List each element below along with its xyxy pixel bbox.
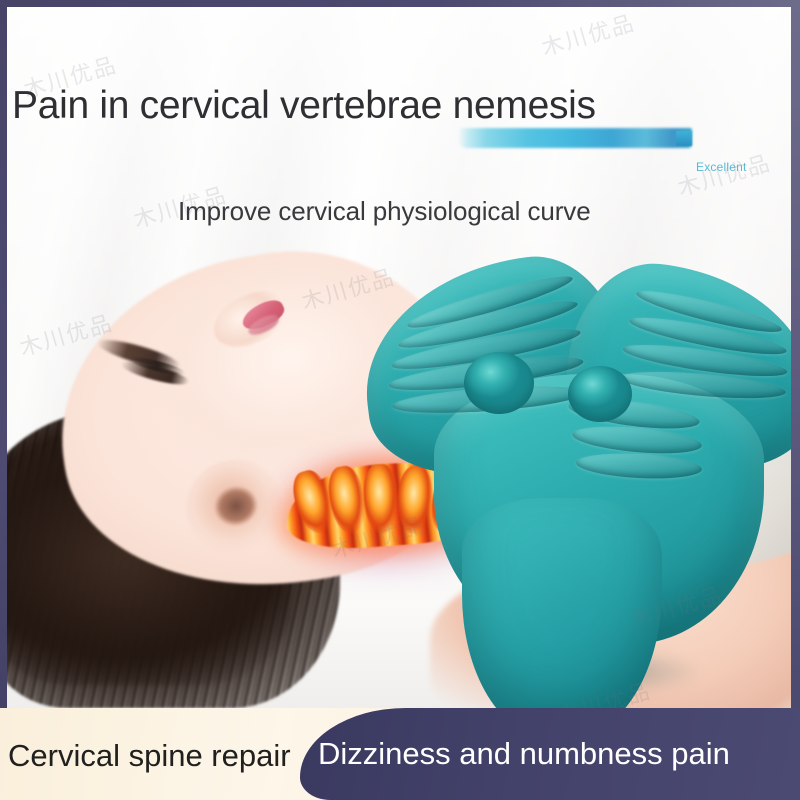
page-subtitle: Improve cervical physiological curve [178,196,591,227]
excellent-badge: Excellent [696,160,747,174]
frame-top-border [0,0,800,7]
banner-left-label: Cervical spine repair [8,738,291,774]
brush-stroke-icon [458,128,692,148]
brush-stroke-cap-icon [676,131,692,146]
frame-left-border [0,0,7,800]
product-advertisement: 木川优品 木川优品 木川优品 木川优品 木川优品 木川优品 木川优品 木川优品 … [0,0,800,800]
page-title: Pain in cervical vertebrae nemesis [12,85,596,128]
banner-right-label: Dizziness and numbness pain [318,736,730,772]
bottom-banner: Cervical spine repair Dizziness and numb… [0,708,800,800]
frame-right-border [791,0,800,800]
